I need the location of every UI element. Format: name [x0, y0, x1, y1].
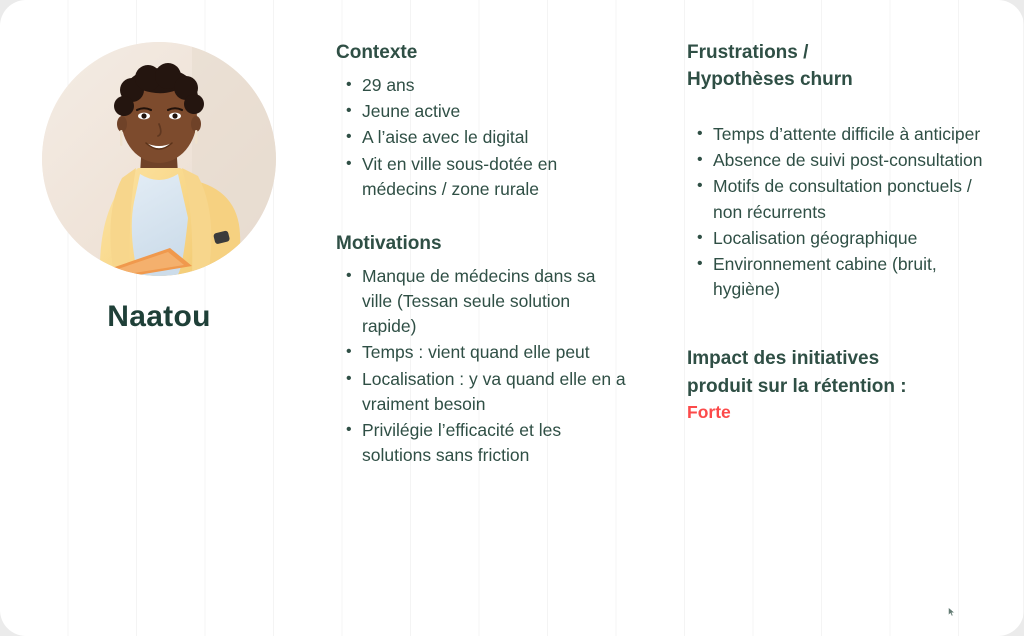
section-spacer	[336, 203, 628, 231]
contexte-heading: Contexte	[336, 40, 628, 67]
list-item: Localisation : y va quand elle en a vrai…	[362, 367, 628, 417]
motivations-heading: Motivations	[336, 231, 628, 258]
list-item: Manque de médecins dans sa ville (Tessan…	[362, 264, 628, 340]
list-item: Motifs de consultation ponctuels / non r…	[713, 174, 987, 224]
list-item: Absence de suivi post-consultation	[713, 148, 987, 173]
frustrations-heading: Frustrations / Hypothèses churn	[687, 40, 987, 94]
frustrations-list: Temps d’attente difficile à anticiper Ab…	[687, 122, 987, 302]
list-item: Jeune active	[362, 99, 628, 124]
heading-spacer	[687, 100, 987, 122]
mouse-cursor-icon	[948, 604, 956, 614]
impact-value-badge: Forte	[687, 400, 987, 425]
list-item: Temps d’attente difficile à anticiper	[713, 122, 987, 147]
list-item: Temps : vient quand elle peut	[362, 340, 628, 365]
frustrations-heading-line2: Hypothèses churn	[687, 69, 853, 90]
list-item: Vit en ville sous-dotée en médecins / zo…	[362, 152, 628, 202]
impact-heading-line1: Impact des initiatives	[687, 348, 879, 369]
persona-name: Naatou	[0, 300, 318, 334]
frustrations-heading-line1: Frustrations /	[687, 42, 808, 63]
list-item: Privilégie l’efficacité et les solutions…	[362, 418, 628, 468]
impact-heading: Impact des initiatives produit sur la ré…	[687, 345, 987, 400]
impact-heading-line2: produit sur la rétention :	[687, 376, 907, 397]
contexte-list: 29 ans Jeune active A l’aise avec le dig…	[336, 73, 628, 202]
impact-spacer	[687, 303, 987, 345]
list-item: 29 ans	[362, 73, 628, 98]
list-item: Environnement cabine (bruit, hygiène)	[713, 252, 987, 302]
list-item: A l’aise avec le digital	[362, 125, 628, 150]
persona-column: Naatou	[0, 0, 318, 636]
right-column: Frustrations / Hypothèses churn Temps d’…	[687, 40, 987, 426]
motivations-list: Manque de médecins dans sa ville (Tessan…	[336, 264, 628, 469]
middle-column: Contexte 29 ans Jeune active A l’aise av…	[336, 40, 628, 469]
avatar	[42, 42, 276, 276]
persona-slide: Naatou Contexte 29 ans Jeune active A l’…	[0, 0, 1024, 636]
list-item: Localisation géographique	[713, 226, 987, 251]
